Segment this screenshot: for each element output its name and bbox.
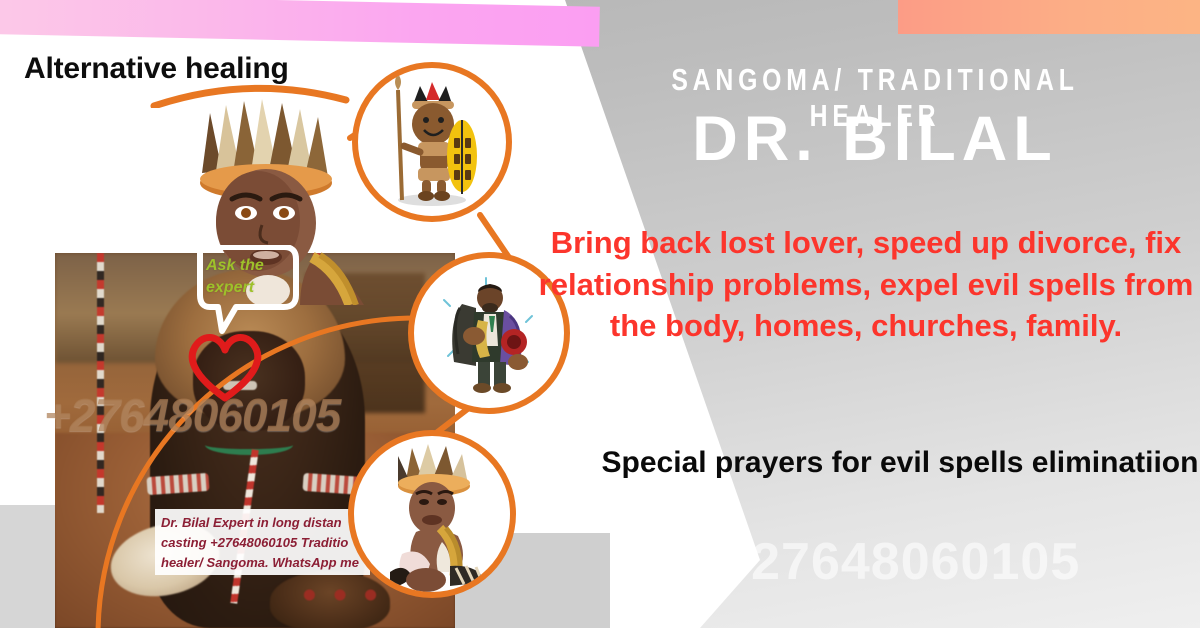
doctor-name: DR. BILAL: [560, 103, 1190, 175]
poster-canvas: Alternative healing: [0, 0, 1200, 628]
services-text: Bring back lost lover, speed up divorce,…: [536, 222, 1196, 347]
photo-caption: Dr. Bilal Expert in long distan casting …: [155, 509, 370, 575]
orange-swoosh: [150, 78, 350, 108]
special-offer-text: Special prayers for evil spells eliminat…: [600, 443, 1200, 482]
speech-bubble-text: Ask the expert: [206, 255, 302, 298]
photo-watermark-phone: +27648060105: [44, 388, 444, 442]
zulu-warrior-cartoon-icon: [352, 62, 512, 222]
speech-bubble: Ask the expert: [188, 245, 304, 337]
kneeling-sangoma-icon: [348, 430, 516, 598]
right-watermark-phone: +27648060105: [600, 532, 1200, 592]
top-pink-band: [0, 0, 600, 47]
top-salmon-band: [898, 0, 1200, 34]
